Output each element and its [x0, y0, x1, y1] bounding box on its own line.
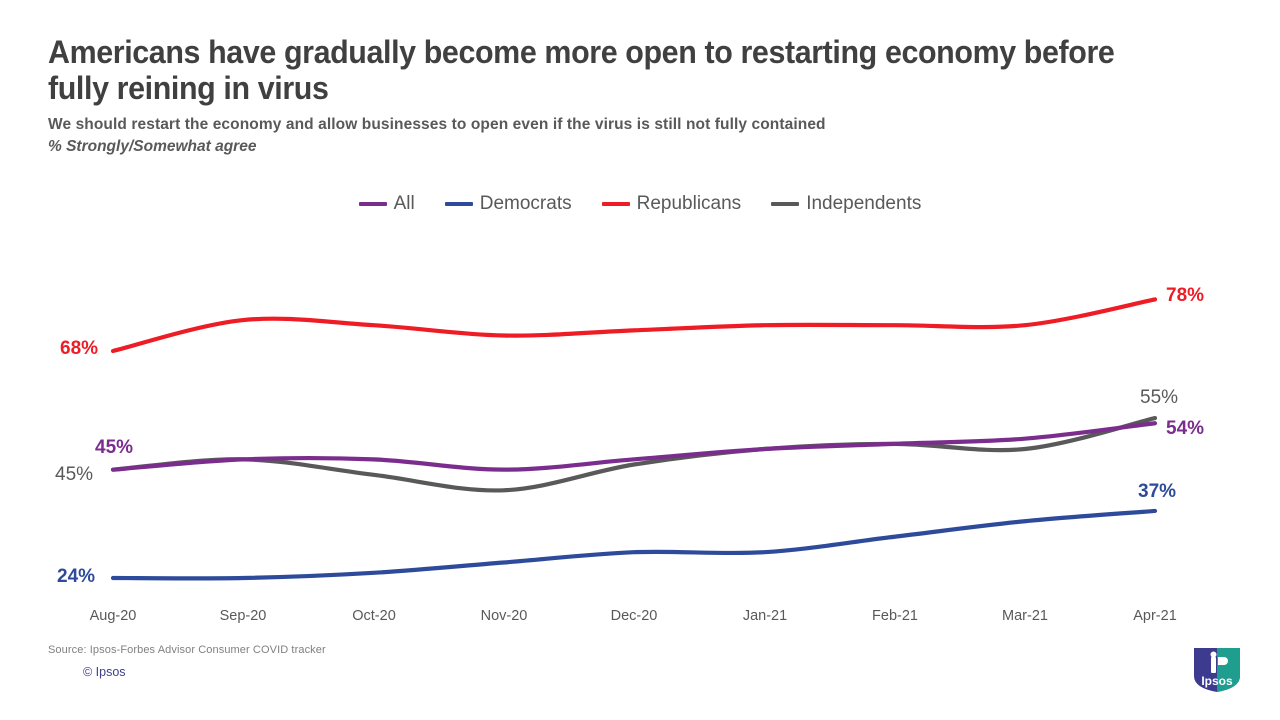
legend-label-all: All: [394, 193, 415, 215]
x-tick-4: Dec-20: [611, 608, 658, 624]
x-tick-7: Mar-21: [1002, 608, 1048, 624]
page-subtitle-metric: % Strongly/Somewhat agree: [48, 137, 1208, 157]
value-label-democrats-first: 24%: [57, 566, 95, 588]
legend-swatch-all: [359, 202, 387, 206]
x-axis: Aug-20 Sep-20 Oct-20 Nov-20 Dec-20 Jan-2…: [0, 608, 1280, 630]
ipsos-logo: Ipsos: [1192, 646, 1242, 694]
value-label-democrats-last: 37%: [1138, 481, 1176, 503]
line-independents: [113, 418, 1155, 490]
header: Americans have gradually become more ope…: [48, 34, 1208, 157]
x-tick-6: Feb-21: [872, 608, 918, 624]
legend-swatch-republicans: [602, 202, 630, 206]
x-tick-0: Aug-20: [90, 608, 137, 624]
legend-item-independents[interactable]: Independents: [771, 193, 921, 215]
legend-swatch-democrats: [445, 202, 473, 206]
legend-item-all[interactable]: All: [359, 193, 415, 215]
slide-root: Americans have gradually become more ope…: [0, 0, 1280, 720]
x-tick-1: Sep-20: [220, 608, 267, 624]
chart-legend: All Democrats Republicans Independents: [0, 193, 1280, 215]
line-all: [113, 423, 1155, 469]
legend-item-democrats[interactable]: Democrats: [445, 193, 572, 215]
value-label-republicans-last: 78%: [1166, 285, 1204, 307]
x-tick-5: Jan-21: [743, 608, 787, 624]
copyright-note: © Ipsos: [83, 665, 126, 679]
page-title: Americans have gradually become more ope…: [48, 34, 1150, 106]
x-tick-2: Oct-20: [352, 608, 396, 624]
page-subtitle: We should restart the economy and allow …: [48, 114, 1208, 135]
ipsos-logo-text: Ipsos: [1201, 674, 1233, 688]
value-label-all-last: 54%: [1166, 418, 1204, 440]
value-label-independents-last: 55%: [1140, 387, 1178, 409]
series-paths: [113, 299, 1155, 578]
line-democrats: [113, 511, 1155, 578]
value-label-republicans-first: 68%: [60, 338, 98, 360]
source-note: Source: Ipsos-Forbes Advisor Consumer CO…: [48, 644, 326, 656]
x-tick-8: Apr-21: [1133, 608, 1177, 624]
legend-label-democrats: Democrats: [480, 193, 572, 215]
legend-label-republicans: Republicans: [637, 193, 742, 215]
legend-item-republicans[interactable]: Republicans: [602, 193, 742, 215]
line-republicans: [113, 299, 1155, 351]
value-label-independents-first: 45%: [55, 464, 93, 486]
value-label-all-first: 45%: [95, 437, 133, 459]
x-tick-3: Nov-20: [481, 608, 528, 624]
legend-swatch-independents: [771, 202, 799, 206]
legend-label-independents: Independents: [806, 193, 921, 215]
